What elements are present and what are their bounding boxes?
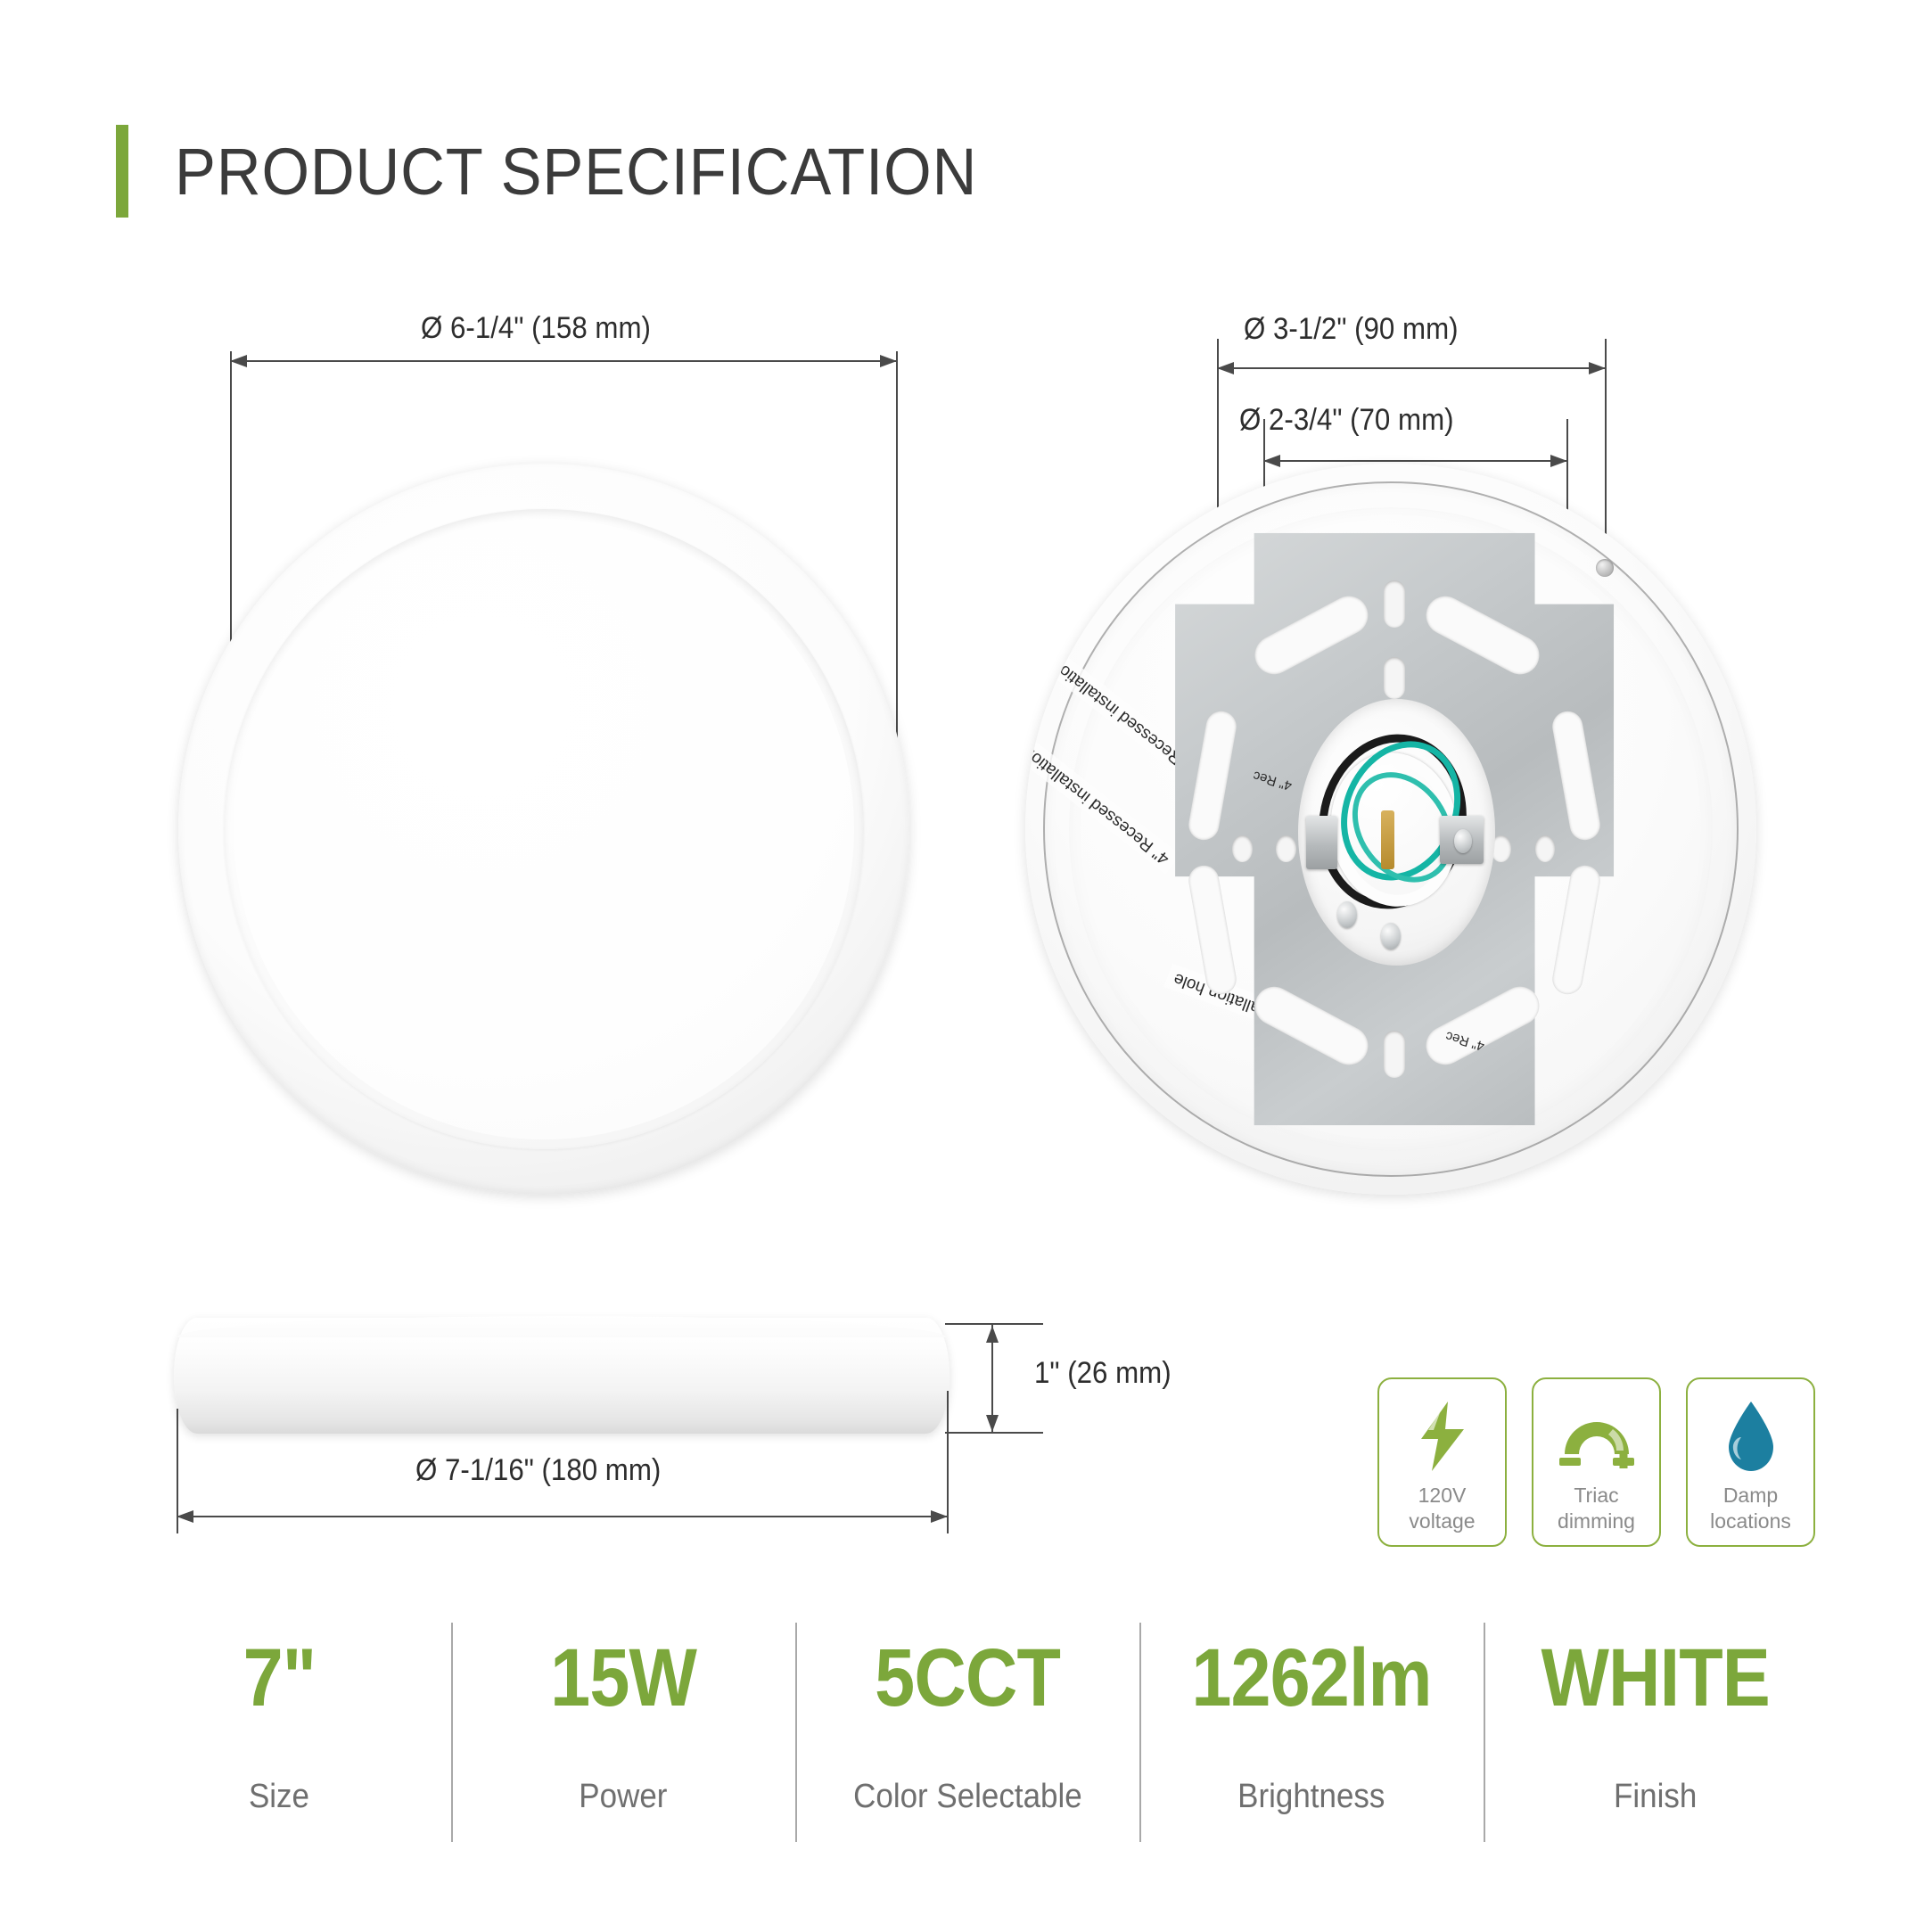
- spec-value-finish: WHITE: [1541, 1635, 1770, 1722]
- badge-label-120v: 120V voltage: [1409, 1483, 1475, 1535]
- badge-triac-dimming[interactable]: Triac dimming: [1532, 1377, 1661, 1547]
- spec-label-cct: Color Selectable: [853, 1778, 1082, 1816]
- side-height-arrow-down-icon: [986, 1415, 999, 1432]
- spec-value-size: 7": [243, 1635, 316, 1722]
- spec-item-brightness: 1262lm Brightness: [1139, 1623, 1484, 1854]
- clamp-screw: [1454, 829, 1472, 853]
- spec-value-brightness: 1262lm: [1191, 1635, 1431, 1722]
- wire-clamp-left: [1306, 816, 1337, 869]
- spec-label-size: Size: [249, 1778, 309, 1816]
- front-fixture-lens: [224, 509, 864, 1149]
- page-title: PRODUCT SPECIFICATION: [175, 134, 977, 210]
- badge-damp-locations[interactable]: Damp locations: [1686, 1377, 1815, 1547]
- side-view: [174, 1318, 950, 1434]
- badge-label-damp: Damp locations: [1710, 1483, 1791, 1535]
- product-specification-sheet: PRODUCT SPECIFICATION Ø 6-1/4" (158 mm) …: [0, 0, 1932, 1932]
- spec-value-power: 15W: [550, 1635, 696, 1722]
- front-view: [178, 464, 909, 1195]
- spec-summary-bar: 7" Size 15W Power 5CCT Color Selectable …: [107, 1623, 1828, 1854]
- front-dimension-line: [230, 360, 897, 362]
- bracket-hole-upper-mid: [1384, 657, 1406, 698]
- front-arrow-left-icon: [230, 355, 247, 367]
- water-droplet-icon: [1725, 1399, 1777, 1474]
- front-diameter-label: Ø 6-1/4" (158 mm): [421, 311, 651, 346]
- bracket-hole-top: [1384, 580, 1406, 628]
- badge-120v-voltage[interactable]: 120V voltage: [1377, 1377, 1507, 1547]
- junction-box: [1298, 699, 1495, 966]
- back-diameter-label-70: Ø 2-3/4" (70 mm): [1239, 403, 1454, 438]
- spec-item-power: 15W Power: [451, 1623, 795, 1854]
- back-dimension-line-inner: [1263, 460, 1567, 462]
- side-width-dimension-line: [177, 1516, 948, 1517]
- spec-item-color-selectable: 5CCT Color Selectable: [795, 1623, 1139, 1854]
- side-width-arrow-right-icon: [931, 1510, 948, 1523]
- brass-terminal: [1381, 810, 1394, 869]
- page-header: PRODUCT SPECIFICATION: [116, 125, 1038, 218]
- bracket-hole-bottom: [1384, 1031, 1406, 1078]
- back-fixture-body: 4" Recessed installation hole 4" Recesse…: [1025, 464, 1756, 1195]
- feature-badges: 120V voltage Triac dimming: [1377, 1377, 1815, 1547]
- back-arrow-outer-left-icon: [1217, 362, 1234, 374]
- bracket-slot-left-lower: [1186, 863, 1238, 997]
- back-diameter-label-90: Ø 3-1/2" (90 mm): [1244, 312, 1459, 347]
- bracket-hole-left-a: [1232, 835, 1253, 863]
- mounting-bracket: 4" Rec 4" Rec: [1175, 533, 1614, 1125]
- spec-label-brightness: Brightness: [1237, 1778, 1385, 1816]
- side-width-arrow-left-icon: [177, 1510, 193, 1523]
- spec-item-finish: WHITE Finish: [1484, 1623, 1828, 1854]
- spec-item-size: 7" Size: [107, 1623, 451, 1854]
- back-view: 4" Recessed installation hole 4" Recesse…: [1025, 464, 1756, 1195]
- lightning-bolt-icon: [1414, 1399, 1471, 1474]
- spec-label-finish: Finish: [1614, 1778, 1697, 1816]
- bracket-hole-right-b: [1535, 835, 1556, 863]
- side-height-label: 1" (26 mm): [1034, 1356, 1172, 1391]
- side-height-arrow-up-icon: [986, 1326, 999, 1343]
- spec-value-cct: 5CCT: [875, 1635, 1060, 1722]
- side-width-label: Ø 7-1/16" (180 mm): [415, 1453, 661, 1488]
- side-height-upper-leader: [945, 1323, 1043, 1325]
- header-accent-bar: [116, 125, 128, 218]
- jbox-screw-right: [1381, 923, 1401, 950]
- badge-label-triac: Triac dimming: [1558, 1483, 1635, 1535]
- front-arrow-right-icon: [880, 355, 897, 367]
- bracket-slot-right-lower: [1550, 863, 1603, 997]
- back-arrow-outer-right-icon: [1589, 362, 1606, 374]
- side-height-lower-leader: [945, 1432, 1043, 1434]
- bracket-hole-left-b: [1276, 835, 1296, 863]
- spec-label-power: Power: [579, 1778, 667, 1816]
- back-dimension-line-outer: [1217, 367, 1606, 369]
- dimmer-arc-icon: [1556, 1399, 1638, 1474]
- jbox-screw-left: [1337, 901, 1357, 928]
